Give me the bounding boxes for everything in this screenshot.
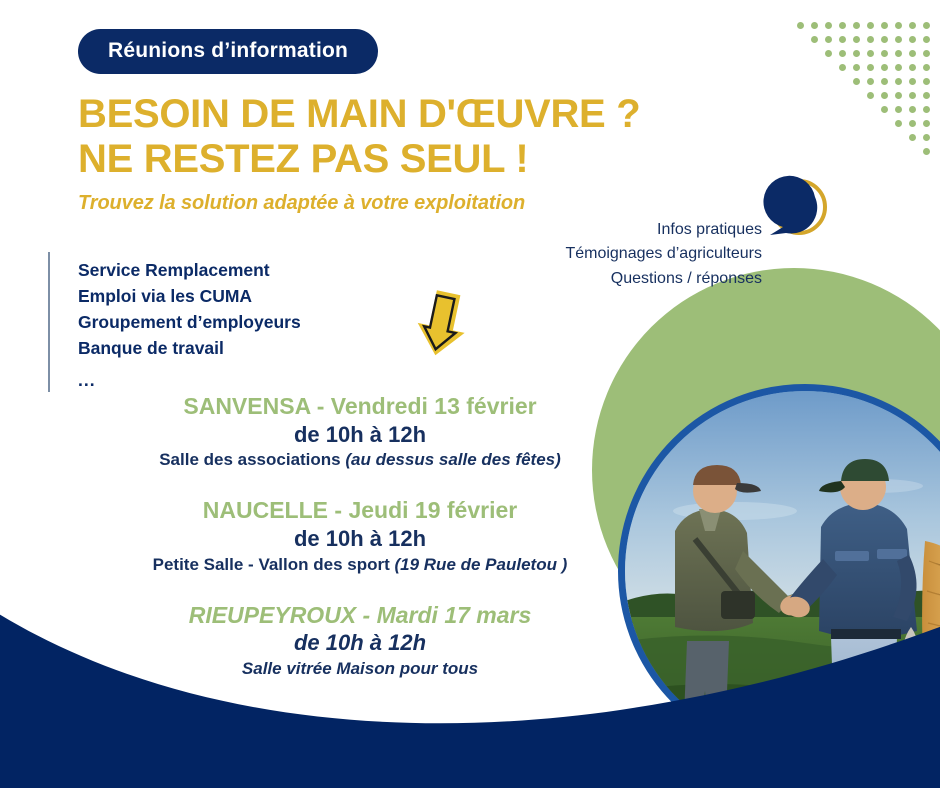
dot-grid-pattern-icon [770, 22, 930, 162]
dot-grid-dot [867, 36, 874, 43]
dot-grid-row [770, 148, 930, 162]
dot-grid-dot [895, 50, 902, 57]
programme-item: Infos pratiques [565, 218, 762, 242]
dot-grid-dot [867, 64, 874, 71]
meeting-type-badge: Réunions d’information [78, 29, 378, 74]
meeting-item: NAUCELLE - Jeudi 19 février de 10h à 12h… [110, 496, 610, 576]
meeting-title: NAUCELLE - Jeudi 19 février [110, 496, 610, 525]
dot-grid-dot [825, 22, 832, 29]
poster-canvas: Réunions d’information BESOIN DE MAIN D'… [0, 0, 940, 788]
dot-grid-dot [825, 36, 832, 43]
dot-grid-dot [923, 78, 930, 85]
dot-grid-dot [923, 106, 930, 113]
programme-list: Infos pratiques Témoignages d’agriculteu… [565, 218, 762, 291]
dot-grid-row [770, 106, 930, 120]
dot-grid-dot [909, 22, 916, 29]
meeting-title: RIEUPEYROUX - Mardi 17 mars [110, 601, 610, 630]
dot-grid-dot [909, 78, 916, 85]
dot-grid-dot [923, 22, 930, 29]
dot-grid-dot [923, 148, 930, 155]
dot-grid-dot [867, 92, 874, 99]
dot-grid-dot [895, 92, 902, 99]
down-arrow-icon [410, 288, 474, 360]
dot-grid-row [770, 50, 930, 64]
headline-line-1: BESOIN DE MAIN D'ŒUVRE ? [78, 92, 718, 137]
meeting-venue: Salle des associations (au dessus salle … [110, 449, 610, 472]
dot-grid-dot [867, 22, 874, 29]
dot-grid-dot [923, 92, 930, 99]
dot-grid-dot [853, 36, 860, 43]
meeting-venue-note: (au dessus salle des fêtes) [345, 450, 560, 469]
dot-grid-dot [853, 50, 860, 57]
dot-grid-dot [811, 22, 818, 29]
meetings-list: SANVENSA - Vendredi 13 février de 10h à … [110, 392, 610, 681]
meeting-venue-name: Petite Salle - Vallon des sport [153, 555, 395, 574]
dot-grid-dot [825, 50, 832, 57]
service-item: Banque de travail [78, 336, 301, 362]
dot-grid-dot [895, 78, 902, 85]
dot-grid-dot [797, 22, 804, 29]
dot-grid-row [770, 64, 930, 78]
meeting-venue-name: Salle des associations [159, 450, 345, 469]
dot-grid-row [770, 78, 930, 92]
dot-grid-dot [839, 36, 846, 43]
headline-subtitle: Trouvez la solution adaptée à votre expl… [78, 192, 718, 215]
dot-grid-dot [909, 106, 916, 113]
dot-grid-dot [895, 22, 902, 29]
service-item: Groupement d’employeurs [78, 310, 301, 336]
dot-grid-dot [909, 92, 916, 99]
service-item: Emploi via les CUMA [78, 284, 301, 310]
dot-grid-dot [909, 36, 916, 43]
dot-grid-dot [881, 78, 888, 85]
dot-grid-dot [895, 64, 902, 71]
meeting-title: SANVENSA - Vendredi 13 février [110, 392, 610, 421]
dot-grid-dot [895, 120, 902, 127]
dot-grid-dot [909, 50, 916, 57]
dot-grid-dot [923, 50, 930, 57]
dot-grid-dot [811, 36, 818, 43]
dot-grid-dot [881, 64, 888, 71]
dot-grid-dot [853, 22, 860, 29]
meeting-venue-note: (19 Rue de Pauletou ) [394, 555, 567, 574]
dot-grid-row [770, 36, 930, 50]
dot-grid-dot [881, 92, 888, 99]
left-vertical-rule [48, 252, 50, 392]
programme-item: Témoignages d’agriculteurs [565, 242, 762, 266]
dot-grid-dot [923, 120, 930, 127]
dot-grid-dot [839, 22, 846, 29]
dot-grid-dot [853, 64, 860, 71]
meeting-time: de 10h à 12h [110, 525, 610, 554]
dot-grid-dot [853, 78, 860, 85]
meeting-time: de 10h à 12h [110, 629, 610, 658]
dot-grid-dot [923, 134, 930, 141]
dot-grid-dot [923, 36, 930, 43]
dot-grid-dot [867, 78, 874, 85]
programme-item: Questions / réponses [565, 267, 762, 291]
dot-grid-dot [881, 50, 888, 57]
services-list: Service Remplacement Emploi via les CUMA… [78, 258, 301, 393]
dot-grid-dot [909, 64, 916, 71]
headline-line-2: NE RESTEZ PAS SEUL ! [78, 137, 718, 182]
speech-bubble-icon [757, 167, 831, 241]
meeting-time: de 10h à 12h [110, 421, 610, 450]
dot-grid-dot [895, 106, 902, 113]
meeting-item: SANVENSA - Vendredi 13 février de 10h à … [110, 392, 610, 472]
dot-grid-dot [881, 36, 888, 43]
dot-grid-row [770, 22, 930, 36]
service-item: Service Remplacement [78, 258, 301, 284]
dot-grid-row [770, 92, 930, 106]
meeting-venue: Salle vitrée Maison pour tous [110, 658, 610, 681]
dot-grid-dot [881, 106, 888, 113]
meeting-item: RIEUPEYROUX - Mardi 17 mars de 10h à 12h… [110, 601, 610, 681]
dot-grid-dot [923, 64, 930, 71]
dot-grid-dot [909, 134, 916, 141]
dot-grid-dot [839, 64, 846, 71]
meeting-venue-name: Salle vitrée Maison pour tous [242, 659, 478, 678]
meeting-venue: Petite Salle - Vallon des sport (19 Rue … [110, 554, 610, 577]
dot-grid-row [770, 120, 930, 134]
dot-grid-row [770, 134, 930, 148]
dot-grid-dot [909, 120, 916, 127]
headline-block: BESOIN DE MAIN D'ŒUVRE ? NE RESTEZ PAS S… [78, 92, 718, 215]
services-ellipsis: ... [78, 368, 301, 394]
dot-grid-dot [895, 36, 902, 43]
dot-grid-dot [839, 50, 846, 57]
dot-grid-dot [881, 22, 888, 29]
dot-grid-dot [867, 50, 874, 57]
